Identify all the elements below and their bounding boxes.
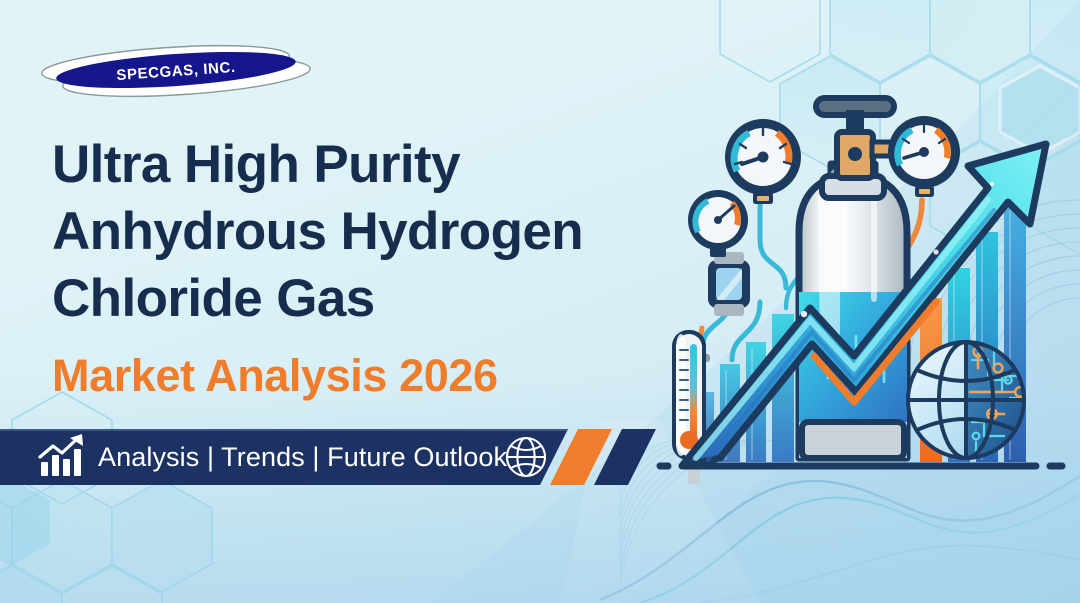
subtitle: Market Analysis 2026 xyxy=(52,348,498,404)
banner: SPECGAS, INC. Ultra High Purity Anhydrou… xyxy=(0,0,1080,603)
headline-line-3: Chloride Gas xyxy=(52,265,712,332)
headline-line-2: Anhydrous Hydrogen xyxy=(52,198,712,265)
pressure-gauge-small xyxy=(688,190,748,257)
illustration xyxy=(636,92,1080,484)
ribbon: Analysis | Trends | Future Outlook xyxy=(0,429,660,485)
page-title: Ultra High Purity Anhydrous Hydrogen Chl… xyxy=(52,131,712,332)
pressure-gauge-right xyxy=(888,116,960,197)
pressure-gauge-large xyxy=(725,119,801,204)
ribbon-label: Analysis | Trends | Future Outlook xyxy=(98,429,507,485)
inline-fitting xyxy=(708,252,750,316)
logo[interactable]: SPECGAS, INC. xyxy=(40,34,312,108)
headline-line-1: Ultra High Purity xyxy=(52,131,712,198)
